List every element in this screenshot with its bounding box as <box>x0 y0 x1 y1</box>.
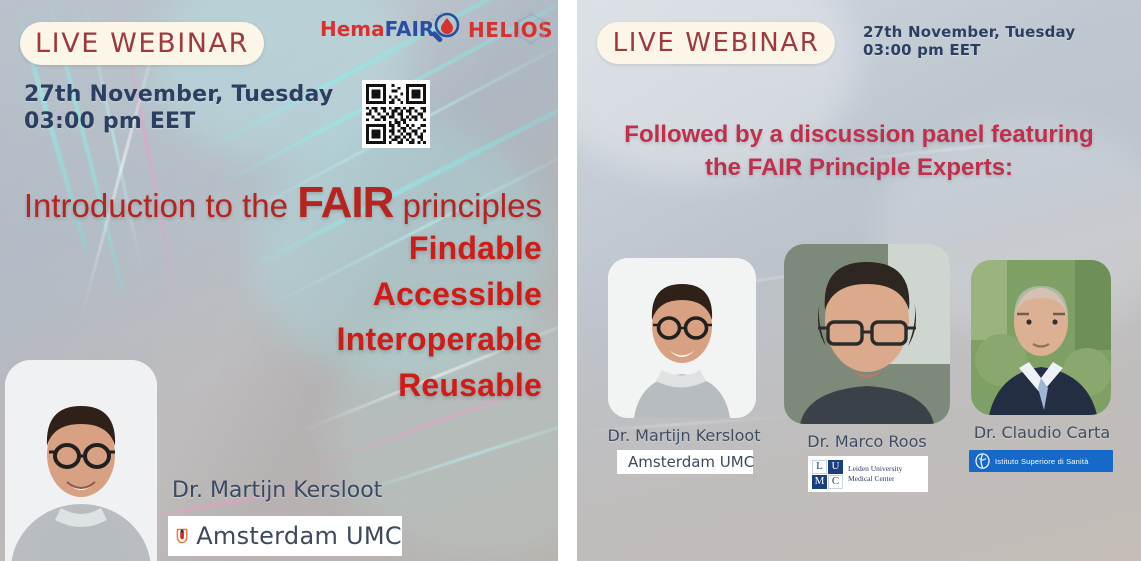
live-webinar-badge: LIVE WEBINAR <box>20 22 264 65</box>
fair-principle-interoperable: Interoperable <box>0 317 542 362</box>
lumc-letter-l: L <box>812 460 827 474</box>
lumc-letter-u: U <box>828 460 843 474</box>
lumc-letter-grid: L U M C <box>812 460 843 489</box>
magnifier-blood-drop-icon <box>424 10 464 50</box>
portrait-martijn-kersloot <box>5 360 157 561</box>
live-webinar-badge-right-label: LIVE WEBINAR <box>613 28 820 58</box>
poster-title-fair: FAIR <box>297 178 393 227</box>
discussion-panel-headline: Followed by a discussion panel featuring… <box>583 118 1135 184</box>
istituto-superiore-sanita-icon: Istituto Superiore di Sanità <box>969 450 1113 472</box>
lumc-letter-c: C <box>828 475 843 489</box>
portrait-claudio-carta <box>971 260 1111 415</box>
panelist-name-roos: Dr. Marco Roos <box>770 432 964 451</box>
panel-divider <box>558 0 577 561</box>
poster-title-prefix: Introduction to the <box>24 187 297 224</box>
webinar-date-line: 27th November, Tuesday <box>24 82 333 109</box>
live-webinar-badge-label: LIVE WEBINAR <box>35 28 249 59</box>
panelist-row: Dr. Martijn Kersloot Amsterdam UMC <box>577 240 1141 500</box>
webinar-poster-pair: LIVE WEBINAR 27th November, Tuesday 03:0… <box>0 0 1141 561</box>
portrait-marco-roos <box>784 244 950 424</box>
discussion-panel-headline-line2: the FAIR Principle Experts: <box>583 151 1135 184</box>
discussion-panel-headline-line1: Followed by a discussion panel featuring <box>583 118 1135 151</box>
webinar-date-line-right: 27th November, Tuesday <box>863 23 1075 41</box>
poster-title-suffix: principles <box>393 187 542 224</box>
webinar-time-line-right: 03:00 pm EET <box>863 41 1075 59</box>
amsterdam-umc-label-small: Amsterdam UMC <box>628 453 754 471</box>
qr-code-icon[interactable] <box>362 80 430 148</box>
lumc-text-line2: Medical Center <box>848 474 902 484</box>
amsterdam-umc-logo: Amsterdam UMC <box>168 516 402 556</box>
hexagon-ring-icon <box>508 8 554 54</box>
panelist-name-carta: Dr. Claudio Carta <box>949 423 1135 442</box>
lumc-letter-m: M <box>812 475 827 489</box>
lumc-logo-icon: L U M C Leiden University Medical Center <box>808 456 928 492</box>
fair-principle-accessible: Accessible <box>0 272 542 317</box>
webinar-date-block: 27th November, Tuesday 03:00 pm EET <box>24 82 333 136</box>
live-webinar-badge-right: LIVE WEBINAR <box>597 22 835 64</box>
amsterdam-umc-label: Amsterdam UMC <box>196 522 402 550</box>
webinar-date-block-right: 27th November, Tuesday 03:00 pm EET <box>863 23 1075 60</box>
iss-emblem-icon <box>975 453 990 469</box>
poster-left: LIVE WEBINAR 27th November, Tuesday 03:0… <box>0 0 558 561</box>
hemafair-logo-hema: Hema <box>320 17 385 41</box>
fair-principle-findable: Findable <box>0 226 542 271</box>
poster-title-main: Introduction to the FAIR principles <box>0 180 542 226</box>
brand-logo-row: HemaFAIR HELIOS <box>320 8 552 52</box>
amsterdam-umc-logo-small: Amsterdam UMC <box>617 450 753 474</box>
amsterdam-umc-shield-icon <box>176 520 188 552</box>
hemafair-logo: HemaFAIR <box>320 17 434 41</box>
portrait-martijn-kersloot <box>608 258 756 418</box>
speaker-name-martijn-kersloot: Dr. Martijn Kersloot <box>172 478 382 503</box>
lumc-text-block: Leiden University Medical Center <box>848 464 902 484</box>
lumc-text-line1: Leiden University <box>848 464 902 474</box>
panelist-name-kersloot: Dr. Martijn Kersloot <box>589 426 779 445</box>
istituto-superiore-sanita-label: Istituto Superiore di Sanità <box>995 457 1089 466</box>
webinar-time-line: 03:00 pm EET <box>24 109 333 136</box>
